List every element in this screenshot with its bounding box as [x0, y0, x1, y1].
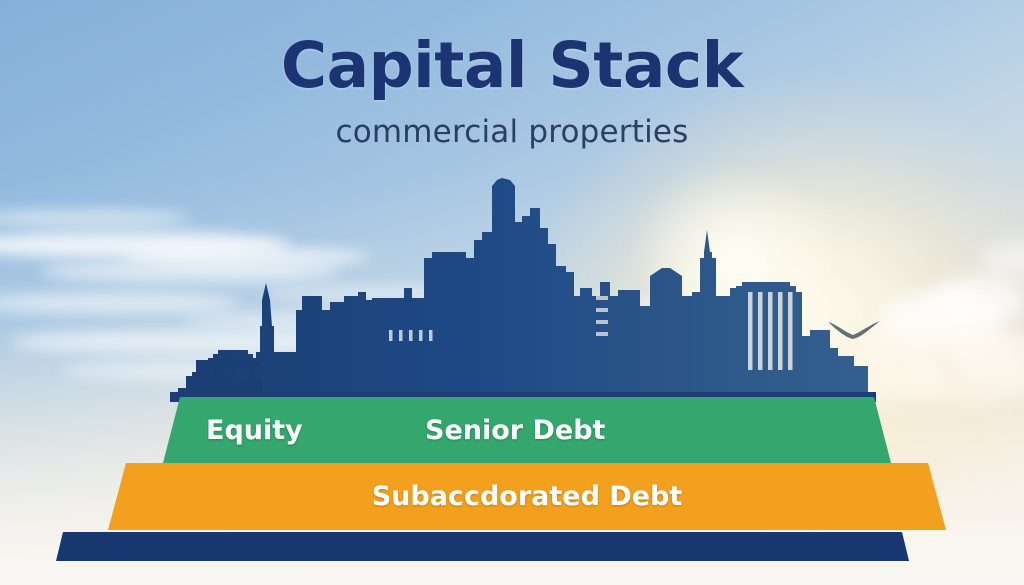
seagull-icon	[826, 316, 882, 346]
page-title: Capital Stack	[0, 34, 1024, 98]
skyline-buildings	[192, 178, 868, 400]
stack-label-equity: Equity	[206, 415, 303, 446]
capital-stack-poster: Capital Stack commercial properties Equi…	[0, 0, 1024, 585]
stack-label-subordinated-debt: Subaccdorated Debt	[108, 481, 946, 512]
page-subtitle: commercial properties	[0, 114, 1024, 150]
stack-layer-subordinated[interactable]: Subaccdorated Debt	[108, 463, 946, 530]
stack-layer-equity-senior[interactable]: Equity Senior Debt	[163, 397, 891, 463]
stack-layer-base[interactable]	[56, 532, 909, 561]
stack-label-senior-debt: Senior Debt	[425, 415, 605, 446]
